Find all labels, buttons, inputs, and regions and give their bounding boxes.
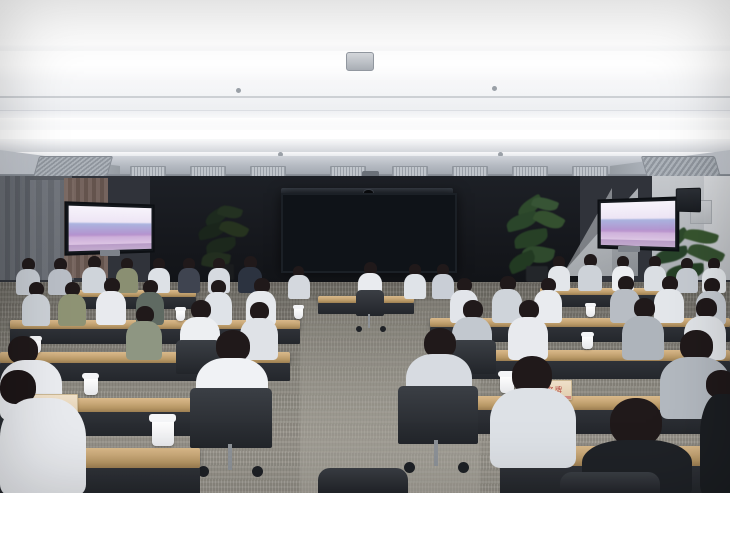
left-side-screen-content [69, 206, 152, 252]
teacup-lid [581, 332, 594, 337]
attendee [96, 278, 126, 324]
right-side-screen [597, 196, 679, 251]
right-side-screen-content [601, 201, 675, 247]
attendee [578, 254, 602, 290]
chair-post [368, 314, 370, 328]
teacup [294, 308, 303, 319]
attendee [288, 266, 310, 298]
attendee [404, 264, 426, 298]
attendee [178, 258, 200, 292]
left-side-screen [64, 201, 154, 256]
attendee [622, 298, 664, 358]
right-screen-bracket [618, 246, 640, 252]
ceiling-panel-seam [0, 96, 730, 98]
ceiling-light-strip [0, 118, 730, 124]
ceiling-sprinkler [236, 88, 241, 93]
chair-caster [252, 466, 263, 477]
attendee [490, 356, 576, 466]
attendee [508, 300, 548, 358]
wall-speaker [676, 188, 701, 213]
side-screen-sky [69, 206, 152, 225]
teacup [582, 336, 593, 349]
chair [560, 472, 660, 493]
caption-whitespace [0, 493, 730, 548]
chair-caster [458, 462, 469, 473]
screenshot-root: 姓名牌 [0, 0, 730, 548]
chair-caster [380, 326, 386, 332]
ceiling-light-strip [0, 44, 730, 51]
ceiling [0, 0, 730, 176]
teacup-lid [149, 414, 176, 422]
attendee [700, 370, 730, 493]
conference-room-photo: 姓名牌 [0, 0, 730, 493]
teacup [152, 420, 174, 446]
teacup [586, 306, 595, 317]
chair-post [228, 444, 232, 470]
ceiling-panel-seam [0, 110, 730, 111]
chair-post [434, 440, 438, 466]
teacup-lid [293, 305, 304, 309]
chair [398, 386, 478, 444]
hvac-grille [33, 156, 113, 178]
attendee [58, 282, 86, 324]
chair-caster [356, 326, 362, 332]
attendee [22, 282, 50, 324]
teacup [84, 378, 98, 395]
attendee [0, 370, 86, 493]
main-led-screen [281, 193, 457, 273]
ceiling-sprinkler [492, 86, 497, 91]
attendee [126, 306, 162, 358]
chair-caster [404, 462, 415, 473]
chair [318, 468, 408, 493]
chair [356, 290, 384, 316]
chair [190, 388, 272, 448]
side-screen-sky [601, 201, 675, 220]
ceiling-projector-mount [346, 52, 374, 71]
hvac-grille [641, 156, 721, 178]
teacup-lid [585, 303, 596, 307]
ceiling-light-strip [0, 130, 730, 139]
